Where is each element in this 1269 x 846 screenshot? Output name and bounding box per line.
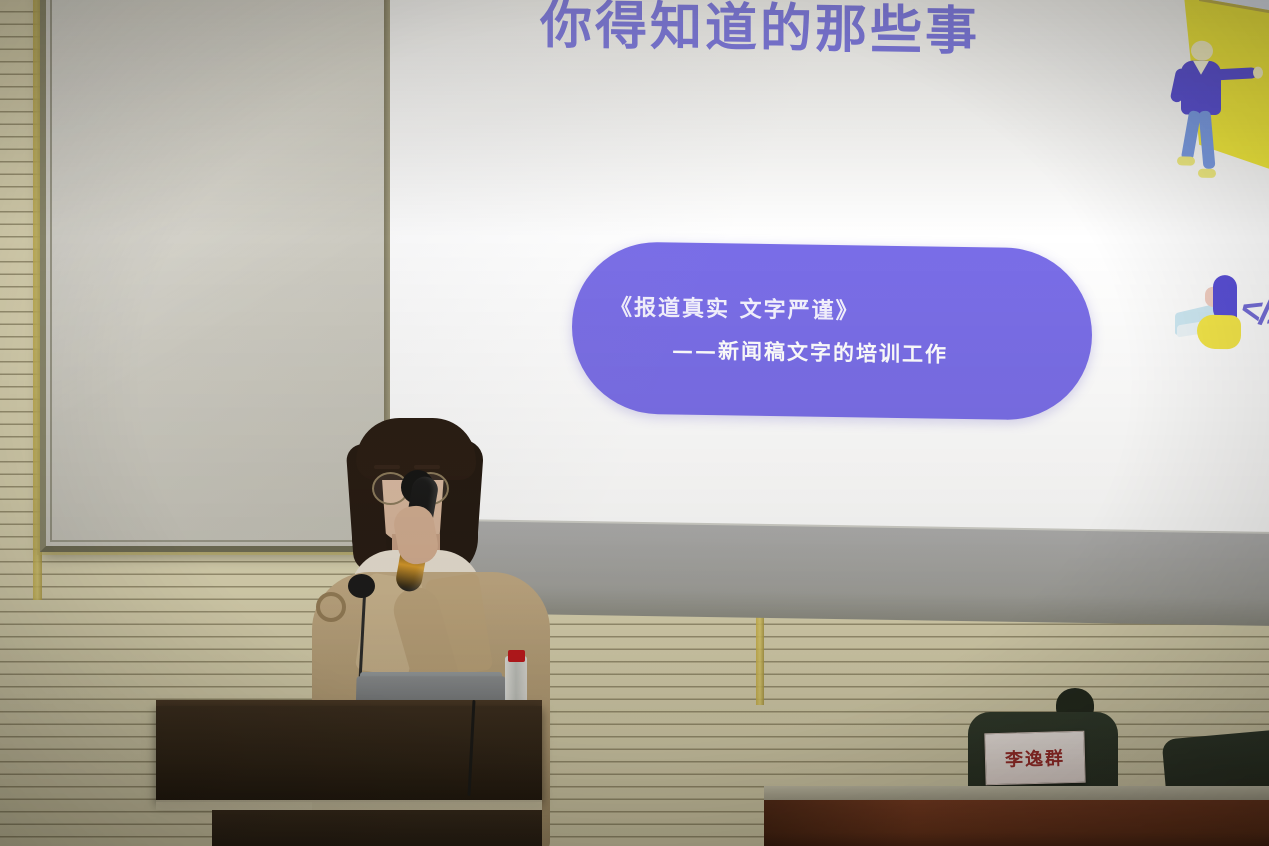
gooseneck-mic-head bbox=[348, 574, 375, 598]
presentation-photo-scene: </> 新媒体人， 你得知道的那些事 《报道真实 文字严谨》 ——新闻稿文字的培… bbox=[0, 0, 1269, 846]
headline-line-2: 你得知道的那些事 bbox=[540, 0, 1160, 64]
slide-subtitle-pill: 《报道真实 文字严谨》 ——新闻稿文字的培训工作 bbox=[572, 241, 1092, 421]
coat-shoulder-button bbox=[316, 592, 346, 622]
slide-headline: 新媒体人， 你得知道的那些事 bbox=[540, 0, 1160, 64]
pill-subtitle: ——新闻稿文字的培训工作 bbox=[672, 334, 948, 368]
speaker-eyebrow-left bbox=[374, 465, 400, 469]
name-placard: 李逸群 bbox=[984, 731, 1085, 786]
speaker-eyebrow-right bbox=[414, 465, 440, 469]
name-placard-text: 李逸群 bbox=[1005, 744, 1066, 772]
podium bbox=[156, 706, 542, 802]
water-bottle-cap bbox=[508, 650, 525, 662]
standing-person-illustration bbox=[1165, 40, 1247, 191]
podium-base-highlight bbox=[156, 800, 542, 810]
panel-table-shading bbox=[764, 800, 1269, 846]
podium-base bbox=[212, 810, 542, 846]
pill-title: 《报道真实 文字严谨》 bbox=[610, 289, 860, 325]
